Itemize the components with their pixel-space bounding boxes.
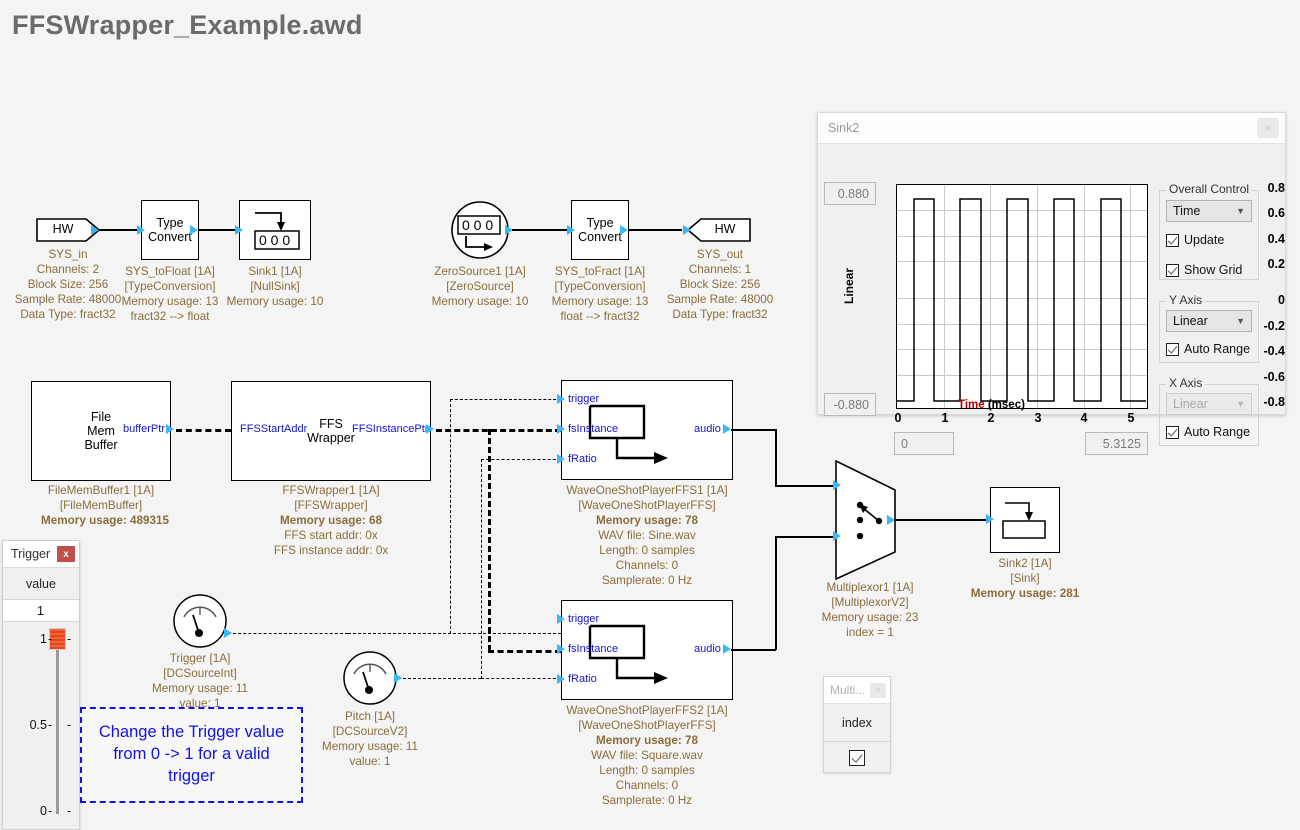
caption-line: Sink1 [1A] xyxy=(215,265,335,280)
caption-line: [DCSourceV2] xyxy=(310,725,430,740)
caption-line: Block Size: 256 xyxy=(660,278,780,293)
caption-line: Multiplexor1 [1A] xyxy=(810,581,930,596)
caption-line: Pitch [1A] xyxy=(310,710,430,725)
port-in-sink1 xyxy=(235,225,243,235)
wire-wp2-audio-h xyxy=(731,649,776,651)
port-label-wp2-fratio: fRatio xyxy=(568,673,597,685)
caption-line: [FileMemBuffer] xyxy=(41,499,161,514)
caption-line: index = 1 xyxy=(810,626,930,641)
scope-y-axis-label: Linear xyxy=(842,268,856,304)
scope-xmin-field[interactable]: 0 xyxy=(894,432,954,455)
caption-line: [WaveOneShotPlayerFFS] xyxy=(557,719,737,734)
x-axis-autorange-checkbox[interactable]: Auto Range xyxy=(1166,425,1250,439)
checkbox-icon xyxy=(1166,264,1179,277)
scope-title: Sink2 xyxy=(828,121,1257,135)
caption-line: [TypeConversion] xyxy=(110,280,230,295)
port-label-wp1-trigger: trigger xyxy=(568,393,599,405)
wire-mux-to-sink2 xyxy=(895,519,992,521)
page-title: FFSWrapper_Example.awd xyxy=(12,10,363,41)
caption-line: Memory usage: 281 xyxy=(965,587,1085,602)
sink-scope-icon xyxy=(997,496,1053,544)
wire-wp1-audio-v xyxy=(775,429,777,486)
caption-line: Samplerate: 0 Hz xyxy=(557,574,737,589)
scope-ymin-field[interactable]: -0.880 xyxy=(824,393,876,416)
checkbox-icon xyxy=(1166,426,1179,439)
caption-line: WAV file: Sine.wav xyxy=(557,529,737,544)
x-axis-scale-select: Linear ▼ xyxy=(1166,393,1252,415)
caption-line: [DCSourceInt] xyxy=(140,667,260,682)
caption-zerosource1: ZeroSource1 [1A] [ZeroSource] Memory usa… xyxy=(420,265,540,310)
caption-line: Memory usage: 13 xyxy=(540,295,660,310)
caption-multiplexor1: Multiplexor1 [1A] [MultiplexorV2] Memory… xyxy=(810,581,930,641)
caption-line: FFS start addr: 0x xyxy=(251,529,411,544)
y-axis-legend: Y Axis xyxy=(1166,293,1205,307)
annotation-note[interactable]: Change the Trigger value from 0 -> 1 for… xyxy=(80,707,303,803)
y-axis-scale-select[interactable]: Linear ▼ xyxy=(1166,310,1252,332)
wire-tofract-sysout xyxy=(628,229,682,231)
port-label-wp1-audio: audio xyxy=(694,423,721,435)
update-label: Update xyxy=(1184,233,1224,247)
scope-xmax-field[interactable]: 5.3125 xyxy=(1085,432,1148,455)
caption-line: SYS_in xyxy=(8,248,128,263)
wire-sysin-tofloat xyxy=(99,229,141,231)
checkbox-icon xyxy=(849,750,865,766)
block-label-line: Type xyxy=(586,216,613,230)
port-in-waveplayer1-trigger xyxy=(557,394,565,404)
block-sink1[interactable]: 0 0 0 xyxy=(239,200,311,260)
trigger-panel[interactable]: Trigger x value 1 1 - - 0.5 - - 0 - - xyxy=(2,540,80,830)
caption-sys-tofract: SYS_toFract [1A] [TypeConversion] Memory… xyxy=(540,265,660,325)
caption-line: Length: 0 samples xyxy=(557,764,737,779)
overall-mode-select[interactable]: Time ▼ xyxy=(1166,200,1252,222)
waveform-trace xyxy=(897,185,1146,407)
caption-line: Memory usage: 10 xyxy=(420,295,540,310)
port-label-bufferptr: bufferPtr xyxy=(123,423,165,435)
block-zerosource1[interactable]: 0 0 0 xyxy=(450,200,510,260)
wire-wp1-audio-h xyxy=(731,429,776,431)
port-in-mux-a xyxy=(833,480,841,490)
port-label-wp2-trigger: trigger xyxy=(568,613,599,625)
x-tick-label: 1 xyxy=(942,411,949,425)
wire-wp1-to-mux xyxy=(775,485,836,487)
port-in-mux-b xyxy=(833,531,841,541)
port-out-mux xyxy=(887,515,895,525)
caption-line: value: 1 xyxy=(310,755,430,770)
caption-line: float --> fract32 xyxy=(540,310,660,325)
meter-gauge-icon xyxy=(342,650,398,706)
port-label-ffsinstanceptr: FFSInstancePtr xyxy=(352,423,428,435)
port-in-waveplayer2-fratio xyxy=(557,674,565,684)
trigger-panel-titlebar: Trigger x xyxy=(3,541,79,568)
x-axis-autorange-label: Auto Range xyxy=(1184,425,1250,439)
caption-line: [ZeroSource] xyxy=(420,280,540,295)
port-out-filemembuffer1 xyxy=(166,424,174,434)
block-label-line: Buffer xyxy=(84,438,117,452)
null-sink-icon: 0 0 0 xyxy=(245,207,305,253)
slider-tick-label: 1 xyxy=(40,632,47,646)
y-axis-scale-value: Linear xyxy=(1173,314,1208,328)
caption-line: Memory usage: 78 xyxy=(557,514,737,529)
x-tick-label: 2 xyxy=(988,411,995,425)
slider-tick-mark: - xyxy=(67,804,71,818)
block-sys-out[interactable]: HW xyxy=(687,218,751,242)
caption-line: FFSWrapper1 [1A] xyxy=(251,484,411,499)
port-in-sys-tofract xyxy=(567,225,575,235)
showgrid-checkbox[interactable]: Show Grid xyxy=(1166,263,1242,277)
block-label-line: Wrapper xyxy=(307,431,355,445)
wire-wp2-to-mux xyxy=(775,536,836,538)
caption-line: WaveOneShotPlayerFFS2 [1A] xyxy=(557,704,737,719)
caption-line: [NullSink] xyxy=(215,280,335,295)
wire-tofloat-sink1 xyxy=(198,229,236,231)
slider-tick-label: 0 xyxy=(40,804,47,818)
caption-line: Memory usage: 489315 xyxy=(41,514,161,529)
multiplexor-panel-title: Multi... xyxy=(830,683,865,697)
caption-line: [FFSWrapper] xyxy=(251,499,411,514)
x-axis-title-unit: (msec) xyxy=(988,399,1025,411)
block-sys-out-label: HW xyxy=(699,222,751,236)
block-label-line: FFS xyxy=(319,417,343,431)
caption-sys-out: SYS_out Channels: 1 Block Size: 256 Samp… xyxy=(660,248,780,323)
port-in-waveplayer1-fratio xyxy=(557,454,565,464)
caption-sink2: Sink2 [1A] [Sink] Memory usage: 281 xyxy=(965,557,1085,602)
scope-ymax-field[interactable]: 0.880 xyxy=(824,182,876,205)
x-tick-label: 3 xyxy=(1035,411,1042,425)
scope-body: 0.880 -0.880 Linear 0.8 0.6 0.4 0.2 0 -0… xyxy=(818,144,1285,416)
y-axis-autorange-checkbox[interactable]: Auto Range xyxy=(1166,342,1250,356)
port-out-ffswrapper1 xyxy=(426,424,434,434)
caption-line: [TypeConversion] xyxy=(540,280,660,295)
port-in-sys-out xyxy=(683,225,691,235)
caption-line: [Sink] xyxy=(965,572,1085,587)
caption-line: SYS_toFract [1A] xyxy=(540,265,660,280)
caption-line: Data Type: fract32 xyxy=(660,308,780,323)
chevron-down-icon: ▼ xyxy=(1236,399,1245,409)
caption-line: [MultiplexorV2] xyxy=(810,596,930,611)
port-in-waveplayer2-trigger xyxy=(557,614,565,624)
caption-line: FileMemBuffer1 [1A] xyxy=(41,484,161,499)
x-tick-label: 4 xyxy=(1081,411,1088,425)
port-label-wp1-fsinstance: fsInstance xyxy=(568,423,618,435)
slider-tick-mark: - xyxy=(48,632,52,646)
caption-waveplayer1: WaveOneShotPlayerFFS1 [1A] [WaveOneShotP… xyxy=(557,484,737,589)
chevron-down-icon: ▼ xyxy=(1236,206,1245,216)
close-icon[interactable]: × xyxy=(870,683,886,698)
multiplexor-index-checkbox[interactable] xyxy=(824,742,890,773)
slider-tick-mark: - xyxy=(67,632,71,646)
caption-line: Memory usage: 68 xyxy=(251,514,411,529)
caption-sys-tofloat: SYS_toFloat [1A] [TypeConversion] Memory… xyxy=(110,265,230,325)
caption-line: Sample Rate: 48000 xyxy=(660,293,780,308)
block-label-line: Convert xyxy=(148,230,192,244)
caption-ffswrapper1: FFSWrapper1 [1A] [FFSWrapper] Memory usa… xyxy=(251,484,411,559)
port-out-sys-in xyxy=(91,225,99,235)
svg-text:0 0 0: 0 0 0 xyxy=(259,232,290,248)
wire-fratio-h-lower xyxy=(398,678,481,679)
wire-trigger-vert xyxy=(450,399,451,634)
port-out-sys-tofract xyxy=(620,225,628,235)
block-label-line: Type xyxy=(156,216,183,230)
wire-ffsinstance-bus-vert xyxy=(488,429,491,651)
caption-sink1: Sink1 [1A] [NullSink] Memory usage: 10 xyxy=(215,265,335,310)
port-out-waveplayer1 xyxy=(723,424,731,434)
caption-line: FFS instance addr: 0x xyxy=(251,544,411,559)
svg-text:0 0 0: 0 0 0 xyxy=(462,217,493,233)
block-label-line: Convert xyxy=(578,230,622,244)
port-in-waveplayer2-fsinstance xyxy=(557,644,565,654)
caption-line: Memory usage: 11 xyxy=(310,740,430,755)
port-label-wp2-fsinstance: fsInstance xyxy=(568,643,618,655)
port-in-sink2 xyxy=(986,514,994,524)
block-sys-in-label: HW xyxy=(36,222,90,236)
trigger-value-label: value xyxy=(3,568,79,600)
showgrid-label: Show Grid xyxy=(1184,263,1242,277)
caption-waveplayer2: WaveOneShotPlayerFFS2 [1A] [WaveOneShotP… xyxy=(557,704,737,809)
caption-line: Memory usage: 23 xyxy=(810,611,930,626)
port-out-pitch-source xyxy=(394,673,402,683)
trigger-panel-title: Trigger xyxy=(11,547,50,561)
caption-line: ZeroSource1 [1A] xyxy=(420,265,540,280)
y-tick-label: -0.6 xyxy=(1213,370,1285,384)
slider-tick-label: 0.5 xyxy=(30,718,47,732)
port-out-waveplayer2 xyxy=(723,644,731,654)
multiplexor-panel[interactable]: Multi... × index xyxy=(823,676,891,773)
slider-tick-mark: - xyxy=(48,718,52,732)
update-checkbox[interactable]: Update xyxy=(1166,233,1224,247)
x-axis-legend: X Axis xyxy=(1166,376,1205,390)
slider-tick-mark: - xyxy=(48,804,52,818)
trigger-value-input[interactable]: 1 xyxy=(3,600,79,622)
close-icon[interactable]: × xyxy=(1257,118,1279,138)
x-axis-scale-value: Linear xyxy=(1173,397,1208,411)
caption-line: Length: 0 samples xyxy=(557,544,737,559)
port-label-wp1-fratio: fRatio xyxy=(568,453,597,465)
overall-control-legend: Overall Control xyxy=(1166,182,1252,196)
caption-line: Sink2 [1A] xyxy=(965,557,1085,572)
caption-pitch-source: Pitch [1A] [DCSourceV2] Memory usage: 11… xyxy=(310,710,430,770)
caption-line: Memory usage: 10 xyxy=(215,295,335,310)
caption-line: SYS_out xyxy=(660,248,780,263)
block-label-line: File xyxy=(91,410,111,424)
y-axis-autorange-label: Auto Range xyxy=(1184,342,1250,356)
slider-track[interactable] xyxy=(56,636,59,814)
block-sink2[interactable] xyxy=(990,487,1060,553)
port-in-sys-tofloat xyxy=(137,225,145,235)
zero-source-icon: 0 0 0 xyxy=(450,200,510,260)
caption-line: WAV file: Square.wav xyxy=(557,749,737,764)
slider-tick-mark: - xyxy=(67,718,71,732)
wire-fratio-h-to-wp2 xyxy=(481,678,561,679)
wire-zerosource-tofract xyxy=(512,229,568,231)
meter-gauge-icon xyxy=(172,593,228,649)
x-axis-title-main: Time xyxy=(958,399,985,411)
caption-line: Memory usage: 13 xyxy=(110,295,230,310)
caption-filemembuffer1: FileMemBuffer1 [1A] [FileMemBuffer] Memo… xyxy=(41,484,161,529)
scope-plot-area[interactable] xyxy=(896,184,1148,409)
port-label-ffsstartaddr: FFSStartAddr xyxy=(240,423,307,435)
caption-line: Trigger [1A] xyxy=(140,652,260,667)
caption-line: Samplerate: 0 Hz xyxy=(557,794,737,809)
block-pitch-source[interactable] xyxy=(342,650,398,706)
overall-mode-value: Time xyxy=(1173,204,1200,218)
wire-trigger-h-to-wp2 xyxy=(348,633,561,634)
wire-ffsinstance-bus-top xyxy=(436,429,561,432)
checkbox-icon xyxy=(1166,343,1179,356)
wire-bufferptr-ffsstartaddr xyxy=(176,429,231,432)
wire-fratio-vert xyxy=(481,459,482,679)
port-in-waveplayer1-fsinstance xyxy=(557,424,565,434)
block-label-line: Mem xyxy=(87,424,115,438)
x-tick-label: 0 xyxy=(895,411,902,425)
wire-fratio-h-upper xyxy=(481,459,561,460)
multiplexor-panel-titlebar: Multi... × xyxy=(824,677,890,704)
caption-trigger-source: Trigger [1A] [DCSourceInt] Memory usage:… xyxy=(140,652,260,712)
close-icon[interactable]: x xyxy=(57,546,75,562)
scope-titlebar: Sink2 × xyxy=(818,113,1285,144)
port-label-wp2-audio: audio xyxy=(694,643,721,655)
chevron-down-icon: ▼ xyxy=(1236,316,1245,326)
x-tick-label: 5 xyxy=(1128,411,1135,425)
caption-line: Channels: 0 xyxy=(557,559,737,574)
port-out-trigger-source xyxy=(224,628,232,638)
wire-trigger-h-upper xyxy=(450,399,561,400)
caption-line: Memory usage: 78 xyxy=(557,734,737,749)
port-out-sys-tofloat xyxy=(190,225,198,235)
caption-line: Channels: 1 xyxy=(660,263,780,278)
block-trigger-source[interactable] xyxy=(172,593,228,649)
multiplexor-index-label: index xyxy=(824,704,890,742)
caption-line: SYS_toFloat [1A] xyxy=(110,265,230,280)
trigger-slider-area[interactable]: 1 - - 0.5 - - 0 - - xyxy=(3,622,79,828)
scope-x-axis-title: Time (msec) xyxy=(958,399,1025,411)
scope-window[interactable]: Sink2 × 0.880 -0.880 Linear 0.8 0.6 0.4 … xyxy=(817,112,1286,415)
caption-line: [WaveOneShotPlayerFFS] xyxy=(557,499,737,514)
wire-wp2-audio-v xyxy=(775,536,777,650)
wire-ffsinstance-bus-bottom xyxy=(488,650,561,653)
wire-trigger-h-lower xyxy=(228,633,348,634)
caption-line: fract32 --> float xyxy=(110,310,230,325)
caption-line: Channels: 0 xyxy=(557,779,737,794)
checkbox-icon xyxy=(1166,234,1179,247)
caption-line: WaveOneShotPlayerFFS1 [1A] xyxy=(557,484,737,499)
caption-line: Memory usage: 11 xyxy=(140,682,260,697)
